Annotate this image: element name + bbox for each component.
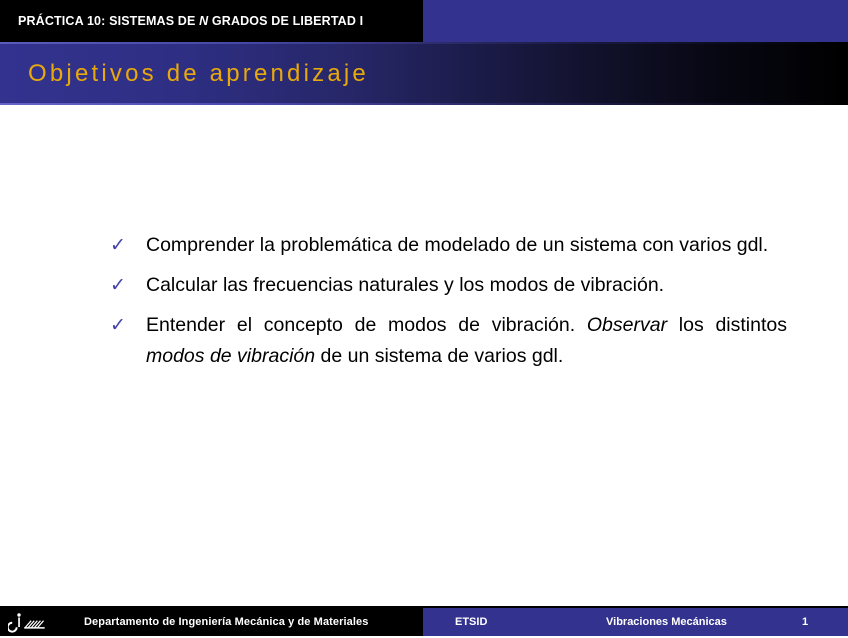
practice-title: PRÁCTICA 10: SISTEMAS DE N GRADOS DE LIB… — [18, 0, 363, 42]
emphasis-text: Observar — [587, 314, 667, 336]
plain-text: de un sistema de varios gdl. — [315, 345, 563, 367]
objectives-list: ✓ Comprender la problemática de modelado… — [110, 230, 787, 381]
upv-dimm-logo-icon — [8, 611, 56, 633]
footer-page-number: 1 — [790, 608, 820, 636]
practice-title-suffix: GRADOS DE LIBERTAD I — [208, 14, 363, 28]
list-item: ✓ Calcular las frecuencias naturales y l… — [110, 270, 787, 301]
emphasis-text: modos de vibración — [146, 345, 315, 367]
plain-text: Calcular las frecuencias naturales y los… — [146, 274, 664, 296]
list-item-text-3: Entender el concepto de modos de vibraci… — [146, 310, 787, 372]
checkmark-icon: ✓ — [110, 270, 146, 301]
top-banner: PRÁCTICA 10: SISTEMAS DE N GRADOS DE LIB… — [0, 0, 848, 42]
checkmark-icon: ✓ — [110, 310, 146, 341]
slide-content: ✓ Comprender la problemática de modelado… — [0, 105, 848, 600]
practice-title-italic-n: N — [199, 14, 208, 28]
plain-text: Entender el concepto de modos de vibraci… — [146, 314, 587, 336]
slide-title: Objetivos de aprendizaje — [28, 42, 369, 105]
list-item-text-1: Comprender la problemática de modelado d… — [146, 230, 787, 261]
footer-bar: Departamento de Ingeniería Mecánica y de… — [0, 608, 848, 636]
plain-text: los distintos — [667, 314, 787, 336]
slide-title-band: Objetivos de aprendizaje — [0, 42, 848, 105]
footer-subject: Vibraciones Mecánicas — [606, 608, 727, 636]
checkmark-icon: ✓ — [110, 230, 146, 261]
list-item-text-2: Calcular las frecuencias naturales y los… — [146, 270, 787, 301]
list-item: ✓ Comprender la problemática de modelado… — [110, 230, 787, 261]
list-item: ✓ Entender el concepto de modos de vibra… — [110, 310, 787, 372]
footer-school: ETSID — [455, 608, 487, 636]
practice-title-prefix: PRÁCTICA 10: SISTEMAS DE — [18, 14, 199, 28]
footer-department: Departamento de Ingeniería Mecánica y de… — [84, 608, 368, 636]
plain-text: Comprender la problemática de modelado d… — [146, 234, 768, 256]
